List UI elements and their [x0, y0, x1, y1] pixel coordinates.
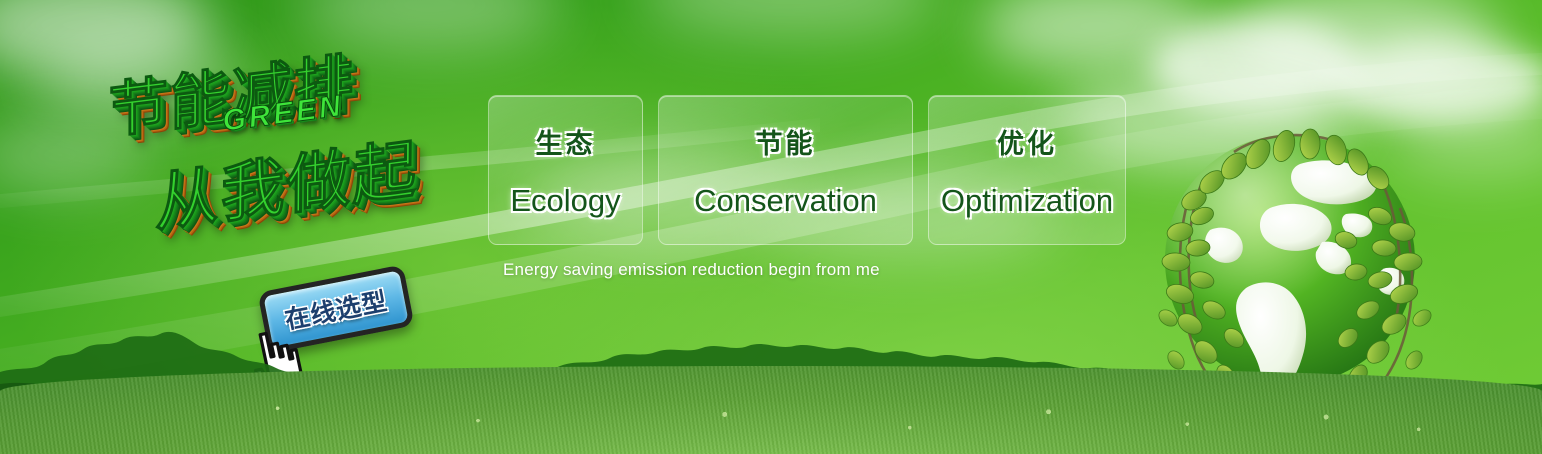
feature-card-cn-label: 节能 — [756, 122, 816, 161]
tagline: Energy saving emission reduction begin f… — [503, 260, 880, 280]
feature-card-list: 生态 Ecology 节能 Conservation 优化 Optimizati… — [488, 95, 1126, 245]
feature-card-en-label: Optimization — [941, 183, 1113, 219]
online-selection-button-label: 在线选型 — [282, 281, 391, 336]
feature-card-optimization[interactable]: 优化 Optimization — [928, 95, 1126, 245]
green-energy-banner: 节能减排 GREEN 从我做起 在线选型 生态 Ecology 节能 Conse… — [0, 0, 1542, 454]
grass-field-icon — [0, 366, 1542, 454]
feature-card-ecology[interactable]: 生态 Ecology — [488, 95, 643, 245]
leafy-globe-icon — [1150, 112, 1440, 412]
feature-card-en-label: Ecology — [510, 183, 620, 219]
page-title: 节能减排 GREEN 从我做起 — [86, 19, 506, 286]
feature-card-conservation[interactable]: 节能 Conservation — [658, 95, 913, 245]
feature-card-cn-label: 生态 — [536, 122, 596, 161]
feature-card-cn-label: 优化 — [997, 122, 1057, 161]
online-selection-button[interactable]: 在线选型 — [257, 264, 414, 353]
feature-card-en-label: Conservation — [694, 183, 877, 219]
